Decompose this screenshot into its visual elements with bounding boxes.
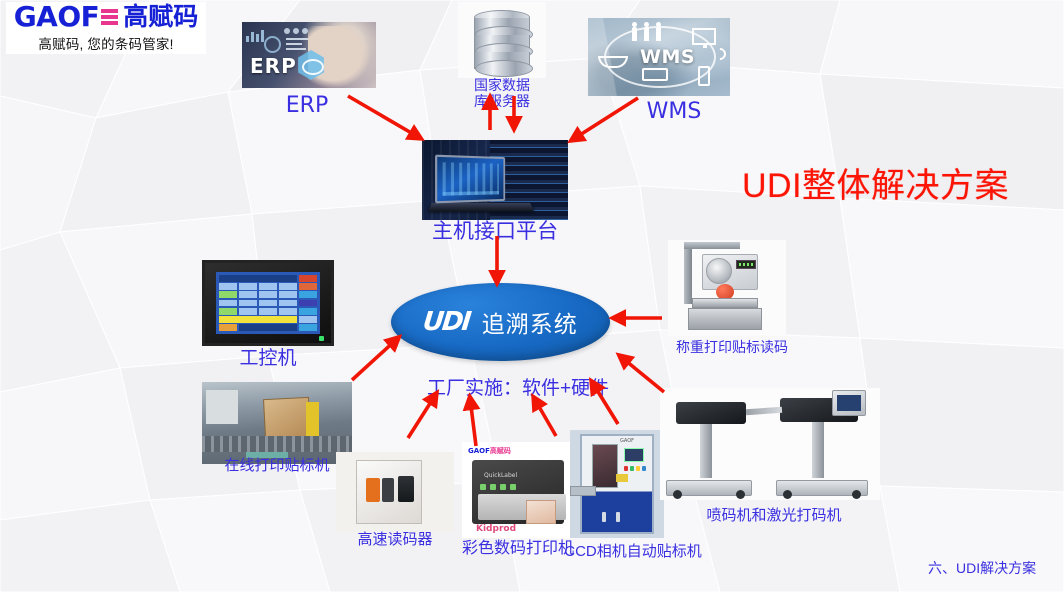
logo-tagline: 高赋码, 您的条码管家! — [38, 33, 173, 53]
database-cylinder-icon — [458, 2, 546, 78]
wms-photo-caption: WMS — [640, 46, 695, 68]
company-logo: GAOF 高赋码 高赋码, 您的条码管家! — [6, 2, 206, 54]
ccd-labeler-photo: GAOF — [570, 430, 664, 538]
label-database: 国家数据 库服务器 — [452, 78, 552, 109]
core-cn-text: 追溯系统 — [482, 305, 578, 339]
wms-photo: WMS — [588, 18, 730, 96]
label-ccd-labeler: CCD相机自动贴标机 — [560, 544, 706, 561]
core-traceability-node: UDI 追溯系统 — [391, 283, 610, 361]
page-title: UDI整体解决方案 — [742, 158, 1009, 207]
logo-bars-icon — [101, 6, 118, 29]
erp-photo: ERP — [242, 22, 376, 88]
server-rack-photo — [422, 140, 568, 220]
core-udi-text: UDI — [422, 307, 472, 337]
label-wms: WMS — [628, 100, 720, 125]
label-factory-implementation: 工厂实施：软件+硬件 — [408, 378, 628, 399]
erp-photo-caption: ERP — [250, 54, 297, 78]
logo-wordmark: GAOF 高赋码 — [14, 3, 199, 31]
label-inkjet-laser: 喷码机和激光打码机 — [684, 508, 864, 525]
conveyor-photo — [202, 382, 352, 464]
printer-overlay-brand: GAOF高赋码 — [468, 446, 511, 456]
slide-canvas: GAOF 高赋码 高赋码, 您的条码管家! UDI整体解决方案 六、UDI解决方… — [0, 0, 1064, 592]
logo-chinese-text: 高赋码 — [123, 5, 198, 30]
label-industrial-pc: 工控机 — [198, 348, 338, 369]
label-high-speed-reader: 高速读码器 — [330, 532, 460, 549]
label-online-labeler: 在线打印贴标机 — [186, 458, 368, 475]
color-printer-photo: GAOF高赋码 QuickLabel Kidprod — [462, 442, 574, 538]
industrial-pc-photo — [202, 260, 334, 346]
label-erp: ERP — [262, 94, 352, 119]
label-host-platform: 主机接口平台 — [400, 220, 590, 244]
inkjet-laser-photo — [660, 388, 880, 500]
logo-latin-text: GAOF — [14, 3, 100, 31]
slide-footnote: 六、UDI解决方案 — [928, 558, 1036, 578]
weighing-labeler-photo — [668, 240, 786, 336]
label-weighing-labeler: 称重打印贴标读码 — [664, 340, 800, 356]
